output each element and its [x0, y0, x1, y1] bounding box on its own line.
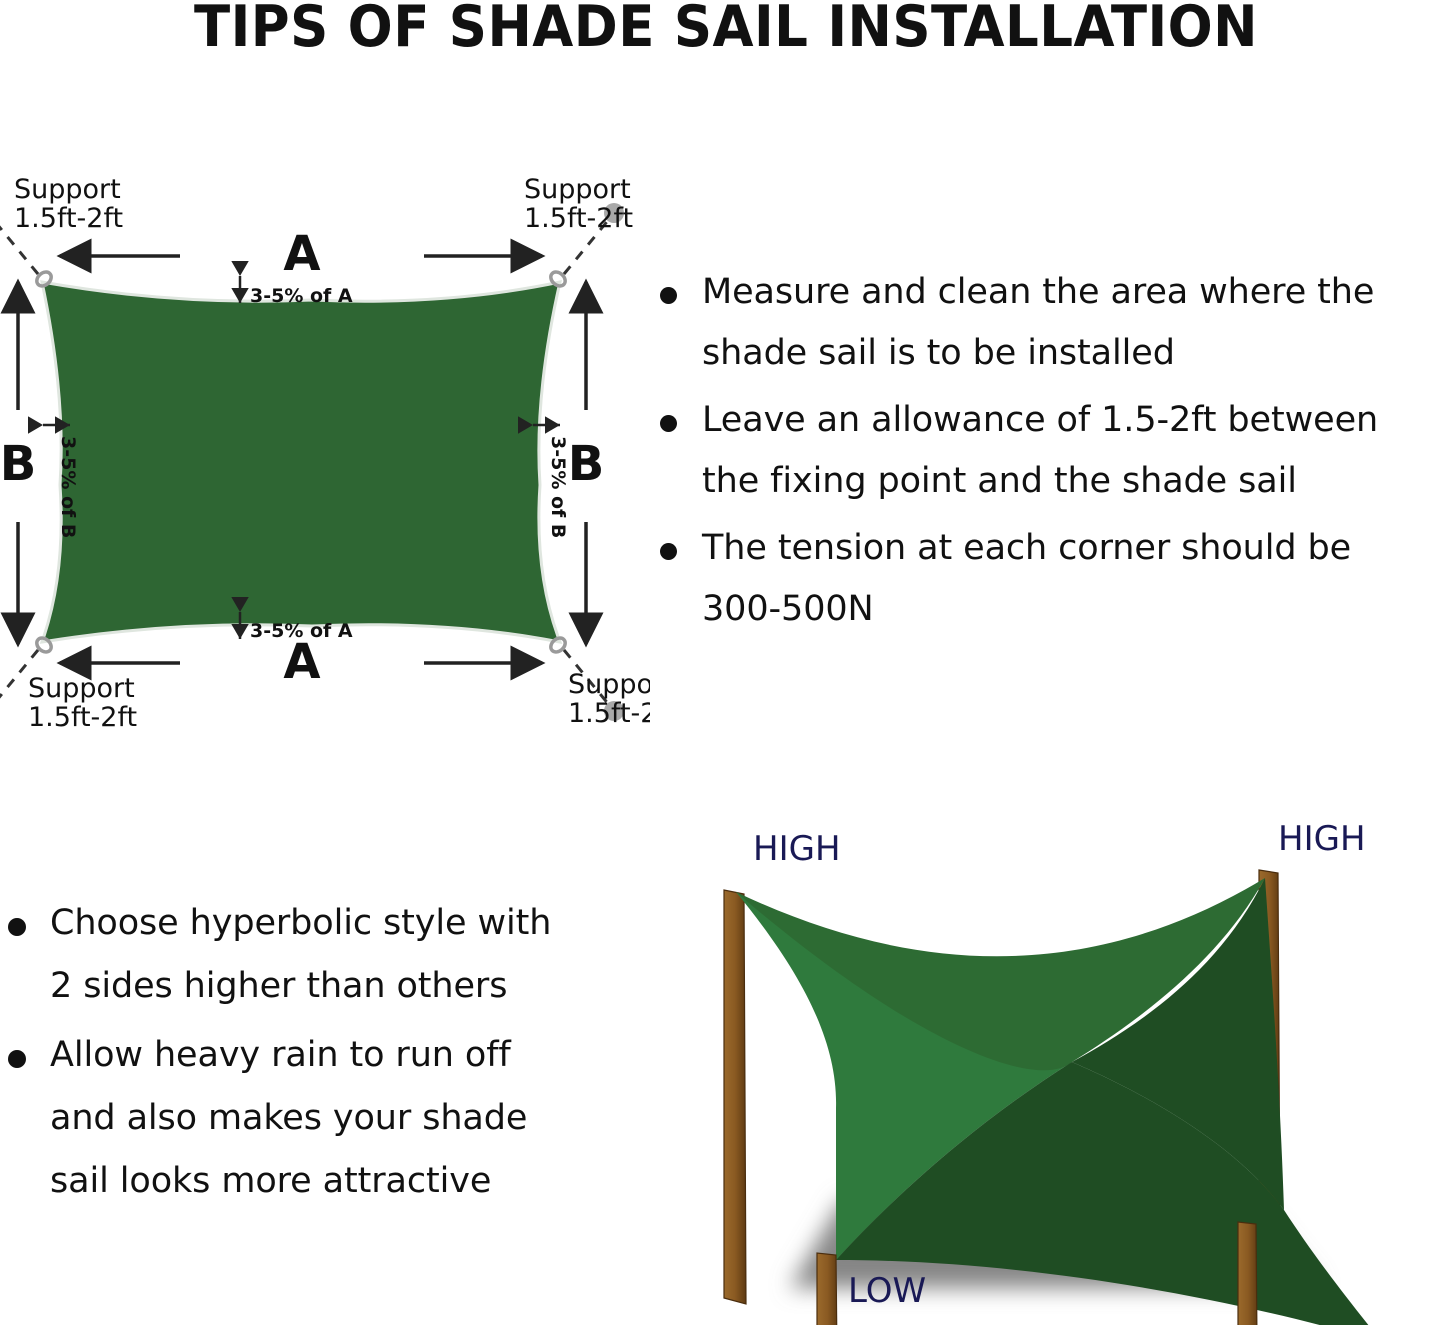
style-item-2-line-1: Allow heavy rain to run off [50, 1035, 511, 1075]
curve-depth-right-label: 3-5% of B [547, 436, 569, 538]
installation-tips-list: Measure and clean the area where the sha… [650, 262, 1450, 646]
curve-depth-bottom-label: 3-5% of A [250, 620, 353, 642]
style-item-1-line-1: Choose hyperbolic style with [50, 903, 551, 943]
tip-item-3: The tension at each corner should be 300… [650, 518, 1450, 640]
support-label-bottom-left-line1: Support [28, 673, 135, 704]
dimension-b-left-label: B [0, 436, 36, 492]
support-label-top-left-line2: 1.5ft-2ft [14, 203, 123, 234]
tip-item-2: Leave an allowance of 1.5-2ft between th… [650, 390, 1450, 512]
style-item-2: Allow heavy rain to run off and also mak… [0, 1024, 625, 1213]
tip-item-2-line-2: the fixing point and the shade sail [702, 461, 1297, 501]
bullet-dot-icon [660, 543, 677, 560]
label-high-left: HIGH [753, 829, 841, 869]
dimension-b-right-label: B [568, 436, 605, 492]
support-label-bottom-left-line2: 1.5ft-2ft [28, 702, 137, 733]
page-title: TIPS OF SHADE SAIL INSTALLATION [51, 0, 1401, 58]
tip-item-3-line-2: 300-500N [702, 589, 874, 629]
support-label-top-left-line1: Support [14, 174, 121, 205]
dimension-a-top-label: A [283, 226, 320, 282]
label-low-left: LOW [848, 1271, 926, 1311]
support-label-top-right-line2: 1.5ft-2ft [524, 203, 633, 234]
bullet-dot-icon [8, 918, 26, 936]
label-high-right: HIGH [1278, 819, 1366, 859]
bullet-dot-icon [660, 287, 677, 304]
tip-item-2-line-1: Leave an allowance of 1.5-2ft between [702, 400, 1378, 440]
tip-item-3-line-1: The tension at each corner should be [702, 528, 1351, 568]
pole-high-left [724, 890, 746, 1304]
hyperbolic-sail-scene: HIGH HIGH LOW LOW [620, 790, 1452, 1325]
bullet-dot-icon [660, 415, 677, 432]
pole-low-back-right [1238, 1222, 1258, 1325]
tip-item-1-line-2: shade sail is to be installed [702, 333, 1175, 373]
sail-shape [42, 282, 560, 642]
dimension-a-bottom-label: A [283, 634, 320, 690]
support-label-top-right-line1: Support [524, 174, 631, 205]
style-tips-list: Choose hyperbolic style with 2 sides hig… [0, 892, 625, 1219]
rectangular-sail-diagram: A 3-5% of A A 3-5% of A B 3-5% of B [0, 160, 650, 740]
support-label-bottom-right-line2: 1.5ft-2ft [568, 698, 650, 729]
style-item-2-line-2: and also makes your shade [50, 1098, 527, 1138]
pole-low-left [817, 1253, 838, 1325]
style-item-1-line-2: 2 sides higher than others [50, 966, 507, 1006]
curve-depth-left-label: 3-5% of B [57, 436, 79, 538]
support-label-bottom-right-line1: Support [568, 669, 650, 700]
tip-item-1-line-1: Measure and clean the area where the [702, 272, 1374, 312]
style-item-2-line-3: sail looks more attractive [50, 1161, 491, 1201]
style-item-1: Choose hyperbolic style with 2 sides hig… [0, 892, 625, 1018]
tip-item-1: Measure and clean the area where the sha… [650, 262, 1450, 384]
bullet-dot-icon [8, 1050, 26, 1068]
curve-depth-top-label: 3-5% of A [250, 285, 353, 307]
